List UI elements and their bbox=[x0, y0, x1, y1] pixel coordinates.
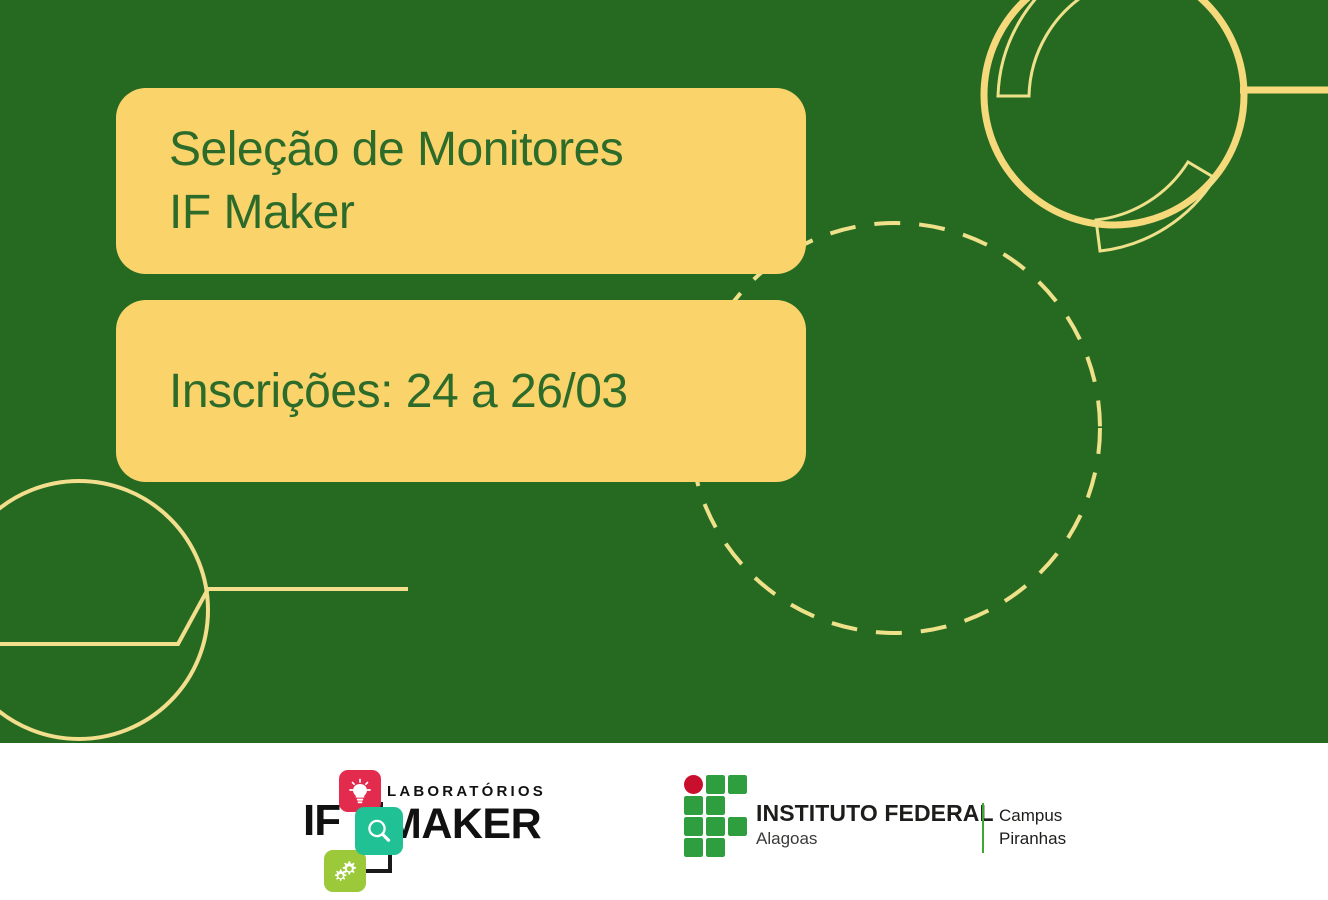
lightbulb-icon bbox=[346, 777, 374, 805]
deco-circle-thick-top-right bbox=[984, 0, 1244, 225]
ifal-grid-mark bbox=[684, 775, 748, 857]
title-card: Seleção de Monitores IF Maker bbox=[116, 88, 806, 274]
title-line-2: IF Maker bbox=[169, 181, 806, 244]
deco-stepped-line bbox=[0, 589, 408, 644]
poster-canvas: Seleção de Monitores IF Maker Inscrições… bbox=[0, 0, 1328, 900]
ifal-campus-line-2: Piranhas bbox=[999, 827, 1066, 850]
ifal-campus-line-1: Campus bbox=[999, 804, 1066, 827]
ifal-state-text: Alagoas bbox=[756, 828, 994, 850]
title-line-1: Seleção de Monitores bbox=[169, 118, 806, 181]
deco-circle-thin-bottom-left bbox=[0, 481, 208, 739]
magnifier-tile bbox=[355, 807, 403, 855]
dates-line-1: Inscrições: 24 a 26/03 bbox=[169, 364, 806, 419]
ifal-wordmark: INSTITUTO FEDERAL Alagoas bbox=[756, 801, 994, 850]
ifal-divider bbox=[982, 803, 984, 853]
lightbulb-tile bbox=[339, 770, 381, 812]
magnifying-glass-icon bbox=[363, 815, 395, 847]
deco-ribbon-lower-right bbox=[1096, 162, 1215, 251]
footer-bar bbox=[0, 743, 1328, 900]
dates-card: Inscrições: 24 a 26/03 bbox=[116, 300, 806, 482]
ifal-campus-text: Campus Piranhas bbox=[999, 804, 1066, 851]
hero-panel: Seleção de Monitores IF Maker Inscrições… bbox=[0, 0, 1328, 743]
gears-icon bbox=[330, 856, 360, 886]
ifmaker-logo: IF bbox=[303, 770, 558, 888]
deco-ribbon-upper-left bbox=[998, 0, 1091, 96]
instituto-federal-logo: INSTITUTO FEDERAL Alagoas Campus Piranha… bbox=[684, 775, 1074, 863]
gears-tile bbox=[324, 850, 366, 892]
ifal-institute-text: INSTITUTO FEDERAL bbox=[756, 801, 994, 827]
